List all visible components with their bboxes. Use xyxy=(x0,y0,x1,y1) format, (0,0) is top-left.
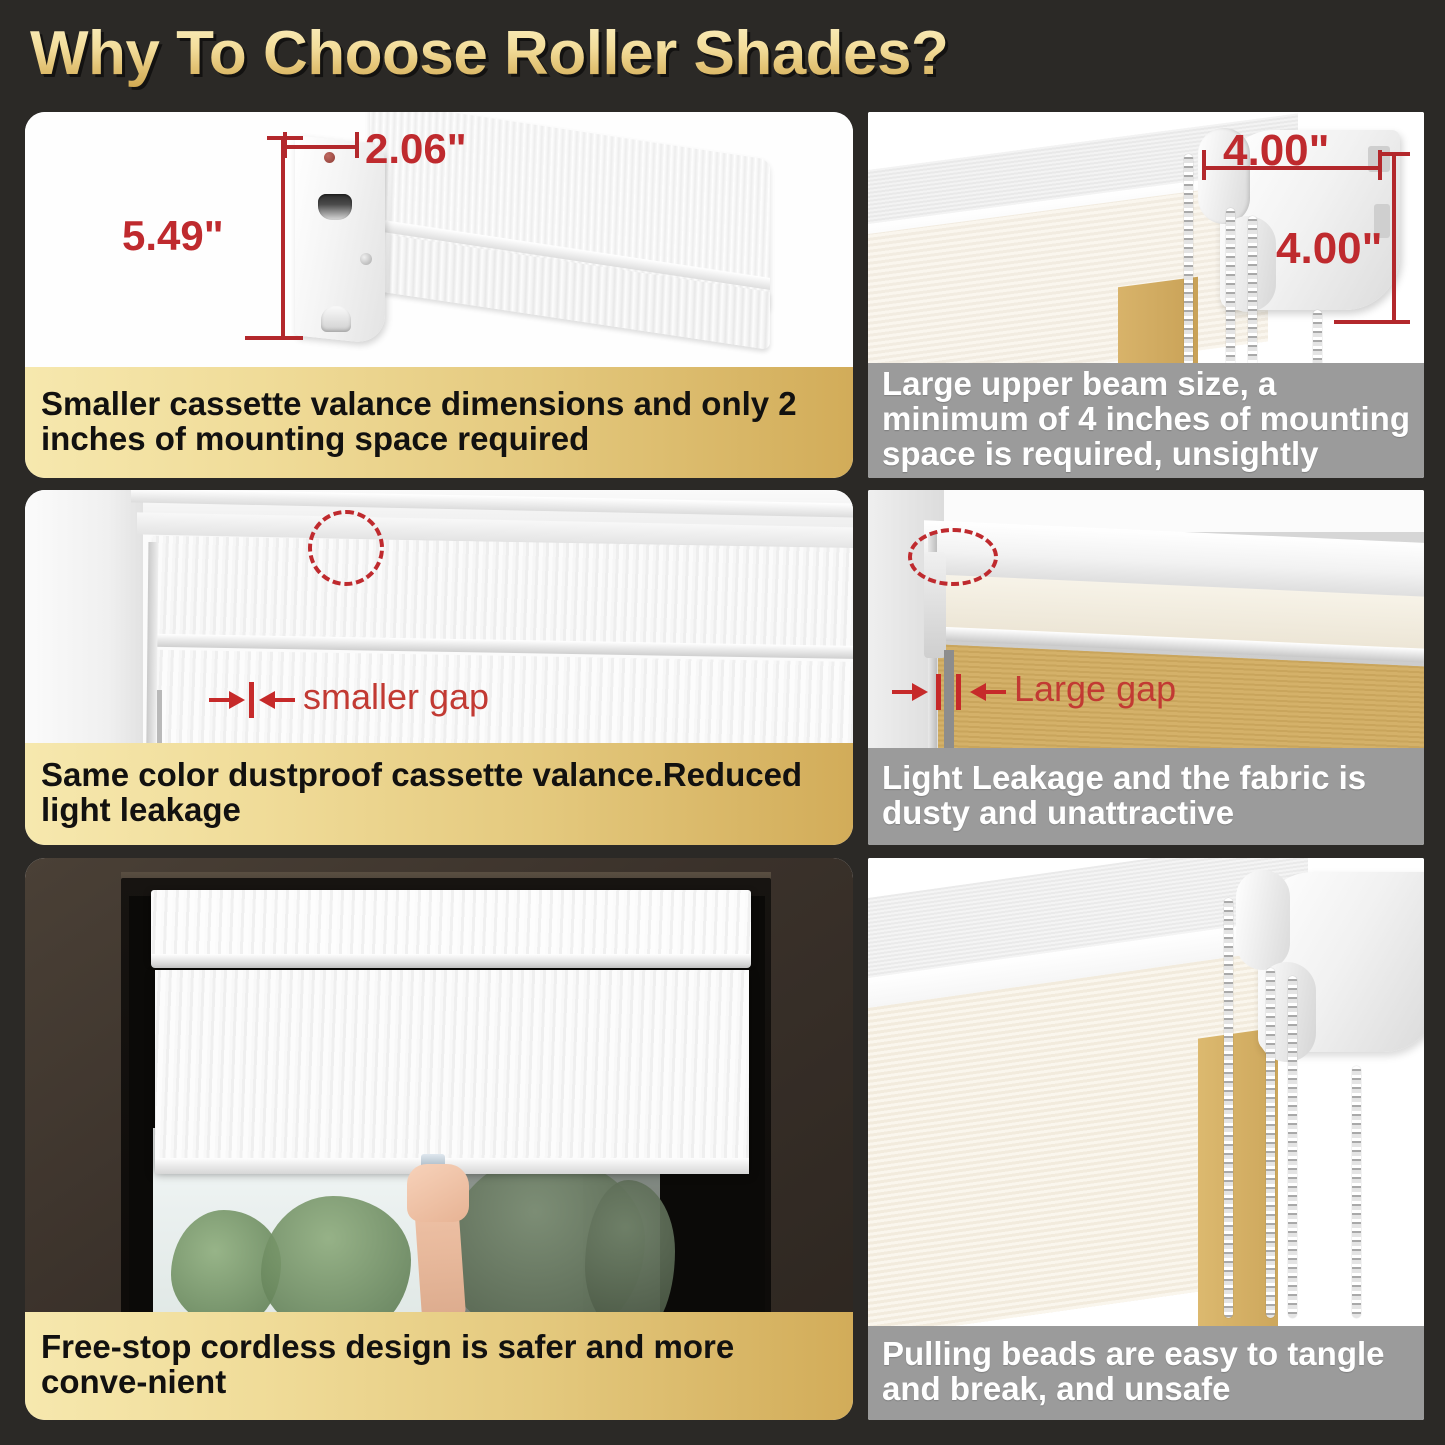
panel-5-caption-text: Free-stop cordless design is safer and m… xyxy=(41,1330,837,1400)
bead-chain-3 xyxy=(1248,216,1257,363)
panel-4-caption-text: Light Leakage and the fabric is dusty an… xyxy=(882,761,1410,831)
panel-6-caption: Pulling beads are easy to tangle and bre… xyxy=(868,1326,1424,1420)
bead-chain-4 xyxy=(1352,1066,1361,1318)
bead-chain-1 xyxy=(1184,154,1193,363)
panel-1-image: 2.06" 5.49" xyxy=(25,112,853,367)
panel-4-image: Large gap xyxy=(868,490,1424,748)
panel-5-caption: Free-stop cordless design is safer and m… xyxy=(25,1312,853,1420)
panel-6-caption-text: Pulling beads are easy to tangle and bre… xyxy=(882,1337,1410,1407)
cassette-valance xyxy=(153,536,853,649)
width-dim-line xyxy=(285,145,359,149)
page-title: Why To Choose Roller Shades? xyxy=(30,18,948,89)
gap-marker-bar-1 xyxy=(936,674,941,710)
light-leak-gap xyxy=(944,650,954,748)
panel-3-caption-text: Same color dustproof cassette valance.Re… xyxy=(41,758,837,828)
beam-width-tick-left xyxy=(1202,150,1206,180)
bead-chain-4 xyxy=(1313,310,1322,363)
bead-chain-2 xyxy=(1266,968,1275,1318)
shade-fabric xyxy=(155,970,749,1170)
gap-arrow-right-stem xyxy=(986,690,1006,694)
beam-height-tick-bottom xyxy=(1334,320,1410,324)
gap-highlight-circle xyxy=(908,528,998,586)
gap-arrow-left-head xyxy=(229,691,245,709)
beam-width-label: 4.00" xyxy=(1223,126,1330,176)
panel-3-caption: Same color dustproof cassette valance.Re… xyxy=(25,743,853,845)
roller-drum-upper xyxy=(1236,870,1290,970)
gap-marker-bar-2 xyxy=(956,674,961,710)
beam-height-dim-line xyxy=(1392,154,1396,324)
height-dim-tick-bottom xyxy=(245,336,303,340)
height-dim-tick-top xyxy=(267,136,303,140)
infographic-root: Why To Choose Roller Shades? 2.06" 5.49" xyxy=(0,0,1445,1445)
panel-4-caption: Light Leakage and the fabric is dusty an… xyxy=(868,748,1424,845)
bracket-slot xyxy=(318,194,352,220)
panel-2-image: 4.00" 4.00" xyxy=(868,112,1424,363)
width-dim-tick-right xyxy=(355,132,359,158)
panel-2-caption: Large upper beam size, a minimum of 4 in… xyxy=(868,363,1424,478)
panel-6-image xyxy=(868,858,1424,1326)
bead-chain-2 xyxy=(1226,208,1235,363)
screw-top-icon xyxy=(324,152,335,163)
bracket-knob xyxy=(321,306,351,332)
gap-arrow-right-head xyxy=(259,691,275,709)
panel-cordless-design: Free-stop cordless design is safer and m… xyxy=(25,858,853,1420)
panel-2-caption-text: Large upper beam size, a minimum of 4 in… xyxy=(882,367,1410,472)
large-gap-label: Large gap xyxy=(1014,668,1176,710)
panel-pulling-beads: Pulling beads are easy to tangle and bre… xyxy=(868,858,1424,1420)
beam-height-tick-top xyxy=(1380,152,1410,156)
panel-5-image xyxy=(25,858,853,1342)
cassette-lip xyxy=(151,954,751,968)
gap-arrow-left-stem xyxy=(892,690,914,694)
gap-highlight-circle xyxy=(308,510,384,586)
window-frame-left xyxy=(25,490,143,743)
height-dimension-label: 5.49" xyxy=(122,212,224,260)
panel-large-upper-beam: 4.00" 4.00" Large upper beam size, a min… xyxy=(868,112,1424,478)
gap-shadow xyxy=(157,690,162,743)
cassette-valance xyxy=(151,890,751,960)
smaller-gap-label: smaller gap xyxy=(303,676,489,718)
gap-arrow-right-stem xyxy=(275,698,295,702)
panel-cassette-dimensions: 2.06" 5.49" Smaller cassette valance dim… xyxy=(25,112,853,478)
gap-arrow-left-head xyxy=(912,683,928,701)
panel-large-gap: Large gap Light Leakage and the fabric i… xyxy=(868,490,1424,845)
beam-height-label: 4.00" xyxy=(1276,224,1383,274)
bead-chain-1 xyxy=(1224,898,1233,1318)
bead-chain-3 xyxy=(1288,976,1297,1318)
panel-3-image: smaller gap xyxy=(25,490,853,743)
hand-fist xyxy=(407,1164,469,1222)
panel-1-caption: Smaller cassette valance dimensions and … xyxy=(25,367,853,478)
gap-marker-bar xyxy=(249,682,254,718)
height-dim-line xyxy=(281,138,285,338)
width-dimension-label: 2.06" xyxy=(365,125,467,173)
panel-1-caption-text: Smaller cassette valance dimensions and … xyxy=(41,387,837,457)
panel-smaller-gap: smaller gap Same color dustproof cassett… xyxy=(25,490,853,845)
gap-arrow-right-head xyxy=(970,683,986,701)
screw-side-icon xyxy=(360,253,372,265)
gap-arrow-left-stem xyxy=(209,698,231,702)
